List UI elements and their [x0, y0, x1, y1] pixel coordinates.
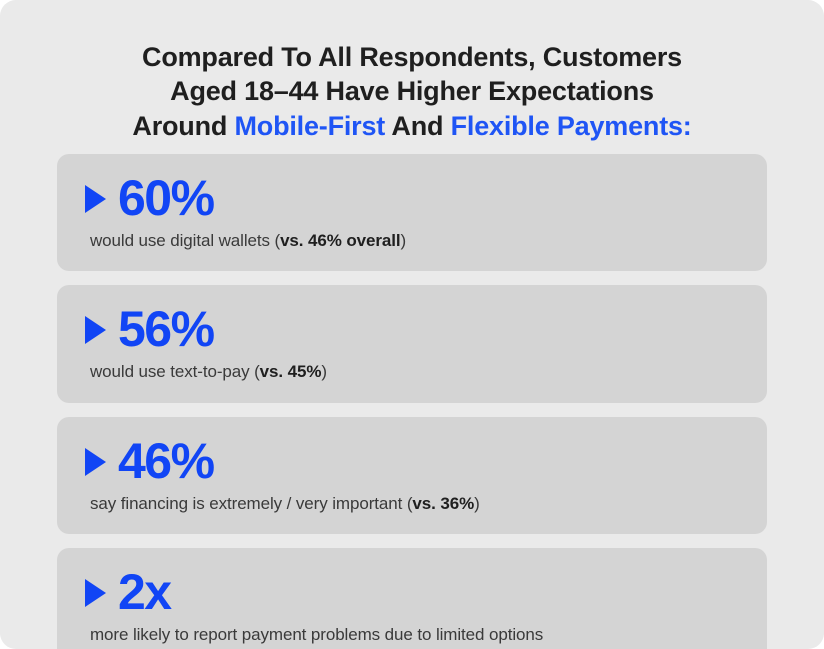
headline-accent-flexible-payments: Flexible Payments: — [451, 111, 692, 141]
stat-description: say financing is extremely / very import… — [90, 493, 745, 514]
stat-card-list: 60% would use digital wallets (vs. 46% o… — [57, 154, 767, 649]
headline-text-around: Around — [132, 111, 234, 141]
stat-value: 60% — [118, 173, 214, 223]
stat-card: 2x more likely to report payment problem… — [57, 548, 767, 649]
stat-description-suffix: ) — [474, 494, 480, 513]
stat-headline-row: 56% — [85, 303, 745, 355]
stat-description-comparison: vs. 45% — [260, 362, 322, 381]
stat-description-prefix: more likely to report payment problems d… — [90, 625, 543, 644]
stat-description: more likely to report payment problems d… — [90, 624, 745, 645]
play-triangle-icon — [85, 448, 106, 476]
infographic-canvas: Compared To All Respondents, Customers A… — [0, 0, 824, 649]
headline-line-1: Compared To All Respondents, Customers — [60, 40, 764, 74]
stat-description-suffix: ) — [321, 362, 327, 381]
stat-value: 46% — [118, 436, 214, 486]
stat-value: 2x — [118, 567, 171, 617]
play-triangle-icon — [85, 316, 106, 344]
stat-description: would use text-to-pay (vs. 45%) — [90, 361, 745, 382]
stat-description: would use digital wallets (vs. 46% overa… — [90, 230, 745, 251]
headline-line-2: Aged 18–44 Have Higher Expectations — [60, 74, 764, 108]
stat-headline-row: 2x — [85, 566, 745, 618]
stat-headline-row: 60% — [85, 172, 745, 224]
stat-description-suffix: ) — [400, 231, 406, 250]
stat-card: 46% say financing is extremely / very im… — [57, 417, 767, 534]
stat-card: 60% would use digital wallets (vs. 46% o… — [57, 154, 767, 271]
stat-description-prefix: would use text-to-pay ( — [90, 362, 260, 381]
stat-headline-row: 46% — [85, 435, 745, 487]
headline-line-3: Around Mobile-First And Flexible Payment… — [60, 109, 764, 143]
play-triangle-icon — [85, 185, 106, 213]
stat-description-comparison: vs. 36% — [412, 494, 474, 513]
stat-card: 56% would use text-to-pay (vs. 45%) — [57, 285, 767, 402]
stat-value: 56% — [118, 304, 214, 354]
stat-description-prefix: say financing is extremely / very import… — [90, 494, 412, 513]
stat-description-prefix: would use digital wallets ( — [90, 231, 280, 250]
stat-description-comparison: vs. 46% overall — [280, 231, 400, 250]
page-title: Compared To All Respondents, Customers A… — [0, 0, 824, 143]
headline-accent-mobile-first: Mobile-First — [234, 111, 385, 141]
headline-text-and: And — [385, 111, 451, 141]
play-triangle-icon — [85, 579, 106, 607]
